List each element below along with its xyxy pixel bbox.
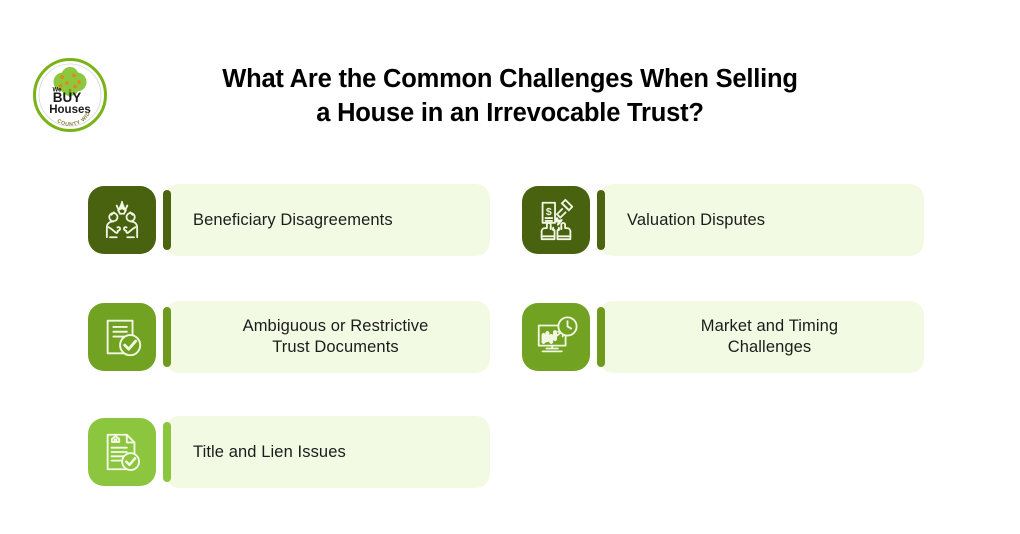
accent-bar xyxy=(597,307,605,367)
card-label-line-2: Challenges xyxy=(728,338,812,356)
people-arguing-icon xyxy=(99,197,145,243)
card-label: Title and Lien Issues xyxy=(165,442,490,463)
title-line-2: a House in an Irrevocable Trust? xyxy=(160,96,860,130)
card-body: Ambiguous or Restrictive Trust Documents xyxy=(165,301,490,373)
challenges-grid: Beneficiary Disagreements $ xyxy=(0,160,1020,534)
header: We BUY Houses COUNTY WIDE What Are the C… xyxy=(0,0,1020,160)
challenge-card-beneficiary-disagreements[interactable]: Beneficiary Disagreements xyxy=(88,180,490,260)
accent-bar xyxy=(163,307,171,367)
challenge-card-ambiguous-trust-documents[interactable]: Ambiguous or Restrictive Trust Documents xyxy=(88,297,490,377)
challenge-card-valuation-disputes[interactable]: $ Valuation Disputes xyxy=(522,180,924,260)
card-body: Title and Lien Issues xyxy=(165,416,490,488)
svg-text:BUY: BUY xyxy=(53,90,82,105)
card-label: Market and Timing Challenges xyxy=(599,316,924,358)
card-body: Market and Timing Challenges xyxy=(599,301,924,373)
document-check-icon-tile xyxy=(88,303,156,371)
card-body: Beneficiary Disagreements xyxy=(165,184,490,256)
people-arguing-icon-tile xyxy=(88,186,156,254)
card-label-line-2: Trust Documents xyxy=(272,338,399,356)
monitor-chart-clock-icon xyxy=(533,314,579,360)
svg-text:Houses: Houses xyxy=(49,104,91,116)
card-label: Ambiguous or Restrictive Trust Documents xyxy=(165,316,490,358)
challenge-card-title-lien-issues[interactable]: Title and Lien Issues xyxy=(88,412,490,492)
house-document-check-icon-tile xyxy=(88,418,156,486)
card-body: Valuation Disputes xyxy=(599,184,924,256)
card-label-line-1: Market and Timing xyxy=(701,317,838,335)
document-check-icon xyxy=(99,314,145,360)
monitor-chart-clock-icon-tile xyxy=(522,303,590,371)
card-label-line-1: Ambiguous or Restrictive xyxy=(243,317,429,335)
card-label: Beneficiary Disagreements xyxy=(165,210,490,231)
card-label: Valuation Disputes xyxy=(599,210,924,231)
gavel-money-document-icon: $ xyxy=(533,197,579,243)
title-line-1: What Are the Common Challenges When Sell… xyxy=(160,62,860,96)
page-title: What Are the Common Challenges When Sell… xyxy=(160,62,860,130)
challenge-card-market-timing[interactable]: Market and Timing Challenges xyxy=(522,297,924,377)
accent-bar xyxy=(597,190,605,250)
house-document-check-icon xyxy=(99,429,145,475)
svg-text:$: $ xyxy=(546,206,552,218)
we-buy-houses-logo: We BUY Houses COUNTY WIDE xyxy=(33,58,107,132)
gavel-money-document-icon-tile: $ xyxy=(522,186,590,254)
accent-bar xyxy=(163,190,171,250)
accent-bar xyxy=(163,422,171,482)
